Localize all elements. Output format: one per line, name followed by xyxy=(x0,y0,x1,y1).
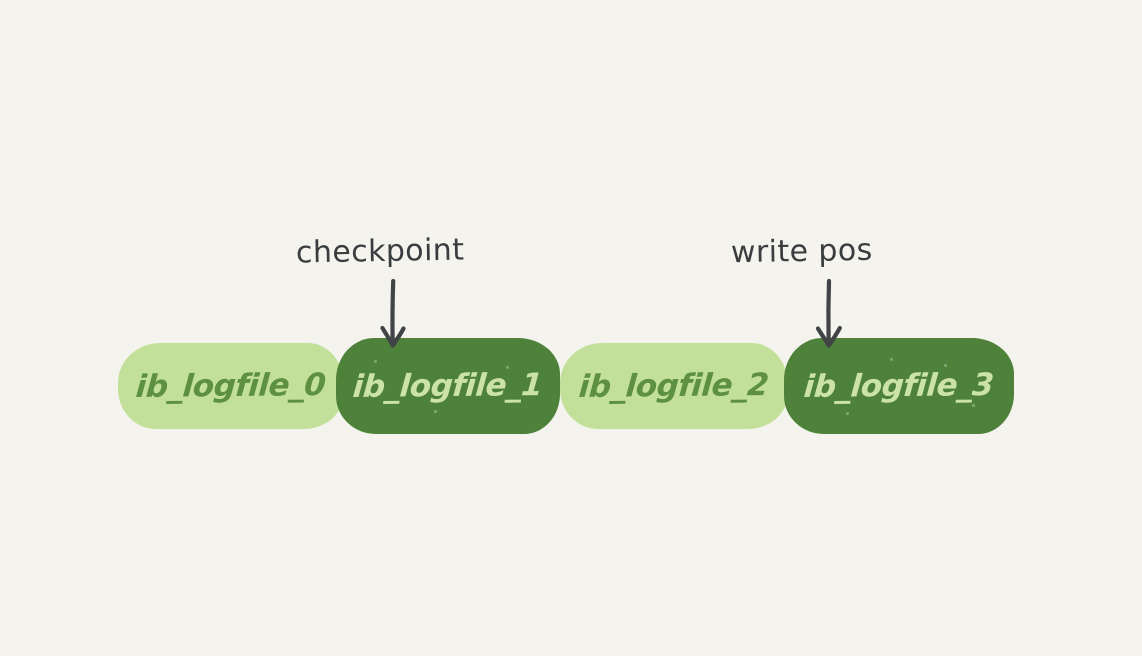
log-file-label: ib_logfile_3 xyxy=(803,367,995,405)
write-pos-label: write pos xyxy=(731,233,873,270)
log-file-pill-2[interactable]: ib_logfile_2 xyxy=(562,345,786,427)
texture-speckle xyxy=(434,410,437,413)
log-file-label: ib_logfile_0 xyxy=(135,367,327,405)
checkpoint-arrow-icon xyxy=(360,275,430,355)
diagram-canvas: ib_logfile_0 ib_logfile_1 ib_logfile_2 i… xyxy=(0,0,1142,656)
texture-speckle xyxy=(846,412,849,415)
log-file-label: ib_logfile_2 xyxy=(578,367,770,405)
write-pos-arrow-icon xyxy=(796,275,866,355)
texture-speckle xyxy=(890,358,893,361)
checkpoint-label: checkpoint xyxy=(296,233,465,271)
log-file-label: ib_logfile_1 xyxy=(352,367,544,405)
texture-speckle xyxy=(374,360,377,363)
texture-speckle xyxy=(972,404,975,407)
log-file-pill-0[interactable]: ib_logfile_0 xyxy=(120,345,342,427)
